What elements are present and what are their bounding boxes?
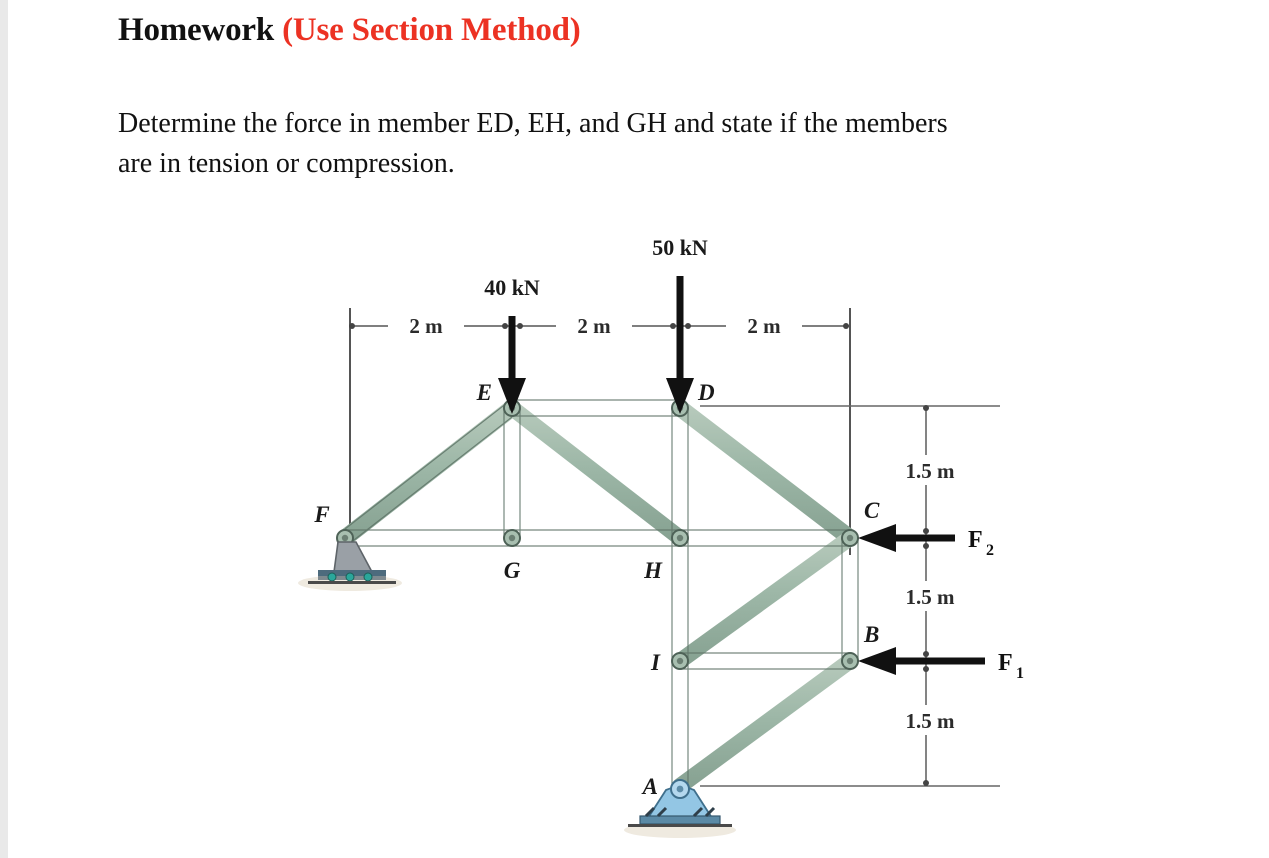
joint-label-A: A xyxy=(641,774,658,799)
joint-C xyxy=(842,530,858,546)
dim-1p5m-1: 1.5 m xyxy=(906,459,956,483)
load-40kn-label: 40 kN xyxy=(484,275,540,300)
dim-1p5m-2: 1.5 m xyxy=(906,585,956,609)
joint-label-G: G xyxy=(504,558,521,583)
rocker-support-F xyxy=(298,542,402,591)
force-arrow-F2 xyxy=(858,524,955,552)
dim-1p5m-3: 1.5 m xyxy=(906,709,956,733)
force-label-F1: F 1 xyxy=(998,650,1024,682)
member-AB xyxy=(680,661,850,786)
dim-2m-1: 2 m xyxy=(409,314,443,338)
force-F1-subscript: 1 xyxy=(1016,665,1024,682)
force-label-F2: F 2 xyxy=(968,527,994,559)
pin-support-A xyxy=(624,780,736,838)
joint-H xyxy=(672,530,688,546)
joint-label-E: E xyxy=(476,380,492,405)
dimension-lines xyxy=(349,308,850,555)
title-main: Homework xyxy=(118,12,274,48)
truss-figure: 2 m 2 m 2 m xyxy=(0,200,1269,858)
page-root: Homework (Use Section Method) Determine … xyxy=(0,0,1269,858)
joint-label-H: H xyxy=(643,558,663,583)
member-DC xyxy=(680,408,850,538)
title-accent: (Use Section Method) xyxy=(282,12,580,48)
member-EH xyxy=(512,408,680,538)
joint-label-C: C xyxy=(864,498,880,523)
joint-label-F: F xyxy=(313,502,329,527)
joint-I xyxy=(672,653,688,669)
vertical-dimension-labels: 1.5 m 1.5 m 1.5 m xyxy=(884,455,976,735)
force-arrow-F1 xyxy=(858,647,985,675)
dim-2m-3: 2 m xyxy=(747,314,781,338)
joint-label-I: I xyxy=(650,650,661,675)
load-50kn-label: 50 kN xyxy=(652,235,708,260)
joint-label-D: D xyxy=(697,380,715,405)
horizontal-dimension-labels: 2 m 2 m 2 m xyxy=(388,310,802,340)
force-F1-symbol: F xyxy=(998,650,1013,676)
load-arrow-40kn xyxy=(498,316,526,414)
truss-members xyxy=(345,408,850,786)
force-F2-symbol: F xyxy=(968,527,983,553)
page-title: Homework (Use Section Method) xyxy=(118,12,581,49)
member-IC xyxy=(680,538,850,661)
dim-2m-2: 2 m xyxy=(577,314,611,338)
load-arrow-50kn xyxy=(666,276,694,414)
force-F2-subscript: 2 xyxy=(986,542,994,559)
joint-label-B: B xyxy=(863,622,879,647)
joint-B xyxy=(842,653,858,669)
problem-statement: Determine the force in member ED, EH, an… xyxy=(118,104,948,184)
joint-G xyxy=(504,530,520,546)
